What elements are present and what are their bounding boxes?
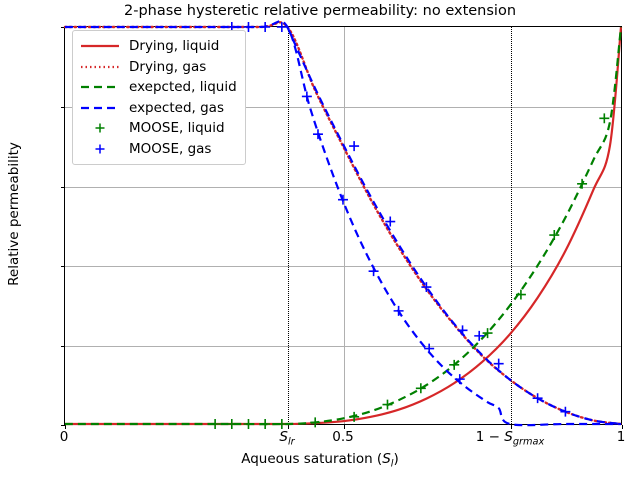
chart-title: 2-phase hysteretic relative permeability… (0, 3, 640, 19)
legend-label-drying-gas: Drying, gas (129, 59, 206, 75)
marker-5-0 (210, 419, 220, 429)
legend-swatch-moose-liquid (79, 121, 121, 135)
legend-label-moose-liquid: MOOSE, liquid (129, 120, 225, 136)
x-tick-label-1: 1 (617, 431, 626, 445)
marker-5-3 (260, 419, 270, 429)
marker-6-14 (458, 325, 468, 335)
marker-5-4 (277, 419, 287, 429)
legend-item-drying-liquid: Drying, liquid (79, 36, 237, 57)
legend-swatch-drying-liquid (79, 39, 121, 53)
legend-label-expected-liquid: exepcted, liquid (129, 79, 237, 95)
legend-label-expected-gas: expected, gas (129, 100, 224, 116)
marker-5-13 (577, 179, 587, 189)
marker-6-18 (560, 407, 570, 417)
x-tick-label-1-sgrmax: 1 − Sgrmax (476, 431, 544, 447)
marker-6-4 (302, 92, 312, 102)
marker-5-5 (310, 417, 320, 427)
marker-6-6 (338, 195, 348, 205)
legend-item-moose-gas: MOOSE, gas (79, 139, 237, 160)
x-axis-label: Aqueous saturation (Sl) (0, 451, 640, 470)
legend-swatch-expected-gas (79, 101, 121, 115)
legend-swatch-drying-gas (79, 60, 121, 74)
marker-6-8 (394, 306, 404, 316)
marker-6-5 (313, 129, 323, 139)
marker-6-17 (533, 393, 543, 403)
legend-item-moose-liquid: MOOSE, liquid (79, 118, 237, 139)
marker-5-7 (382, 400, 392, 410)
legend-label-drying-liquid: Drying, liquid (129, 38, 219, 54)
marker-5-1 (227, 419, 237, 429)
x-tick-label-0-5: 0.5 (332, 431, 353, 445)
x-tick-label-slr: Slr (279, 431, 294, 447)
marker-5-2 (243, 419, 253, 429)
legend-item-drying-gas: Drying, gas (79, 57, 237, 78)
marker-6-11 (349, 141, 359, 151)
marker-6-7 (369, 266, 379, 276)
legend-swatch-moose-gas (79, 142, 121, 156)
figure: 2-phase hysteretic relative permeability… (0, 0, 640, 480)
marker-6-9 (424, 344, 434, 354)
marker-5-11 (516, 290, 526, 300)
legend-item-expected-liquid: exepcted, liquid (79, 77, 237, 98)
x-tick-label-0: 0 (60, 431, 69, 445)
legend: Drying, liquid Drying, gas exepcted, liq… (72, 30, 246, 165)
y-axis-label: Relative permeability (6, 114, 22, 314)
legend-label-moose-gas: MOOSE, gas (129, 141, 211, 157)
marker-6-2 (260, 22, 270, 32)
legend-swatch-expected-liquid (79, 80, 121, 94)
marker-5-14 (599, 113, 609, 123)
legend-item-expected-gas: expected, gas (79, 98, 237, 119)
